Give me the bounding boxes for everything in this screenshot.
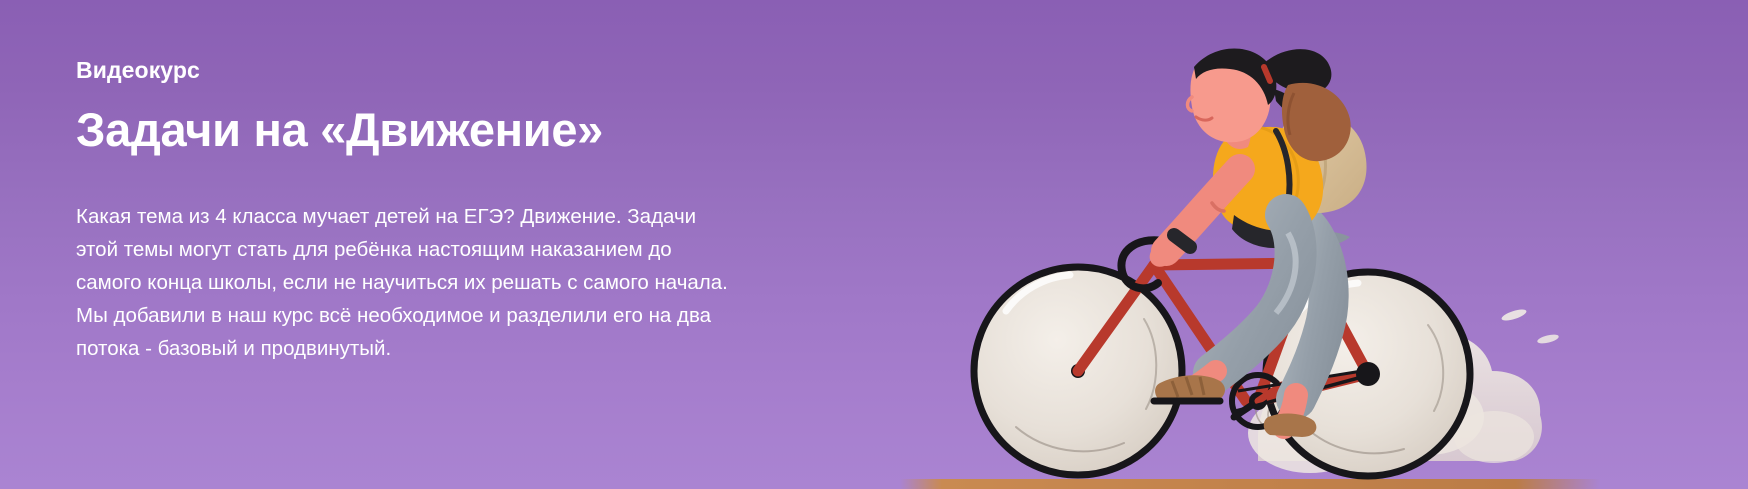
rider-watch	[1174, 235, 1190, 247]
course-type-label: Видеокурс	[76, 58, 776, 83]
page-title: Задачи на «Движение»	[76, 105, 776, 156]
promo-banner: Видеокурс Задачи на «Движение» Какая тем…	[0, 0, 1748, 489]
banner-text-column: Видеокурс Задачи на «Движение» Какая тем…	[76, 58, 776, 365]
course-description: Какая тема из 4 класса мучает детей на Е…	[76, 200, 736, 365]
cyclist-illustration	[958, 19, 1598, 489]
